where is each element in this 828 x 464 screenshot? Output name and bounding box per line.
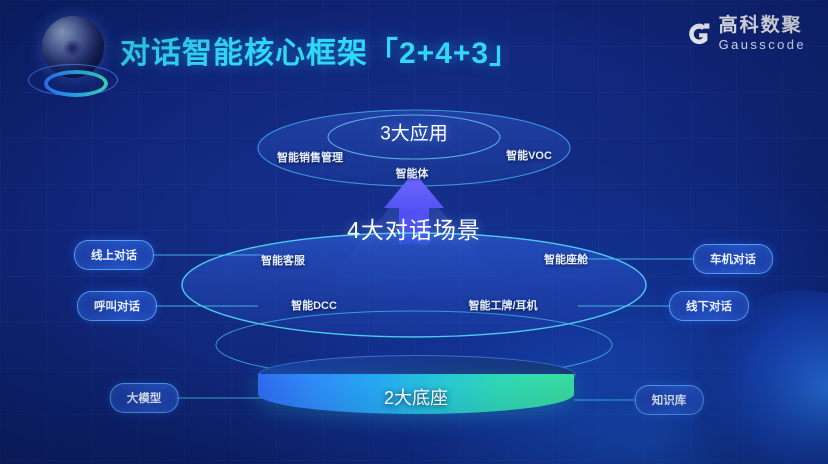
middle-tier-ellipse xyxy=(182,233,646,337)
middle-tier-title: 4大对话场景 xyxy=(347,211,481,245)
node-smart-voc: 智能VOC xyxy=(506,147,552,163)
node-smart-cockpit: 智能座舱 xyxy=(544,251,588,267)
pill-offline-dialogue[interactable]: 线下对话 xyxy=(669,291,749,321)
node-smart-customer-service: 智能客服 xyxy=(261,252,305,268)
pill-knowledge-base[interactable]: 知识库 xyxy=(635,385,704,415)
pill-invehicle-dialogue[interactable]: 车机对话 xyxy=(693,244,773,274)
pill-call-dialogue[interactable]: 呼叫对话 xyxy=(77,291,157,321)
top-tier-title: 3大应用 xyxy=(380,119,448,146)
node-smart-dcc: 智能DCC xyxy=(291,297,337,313)
slide-canvas: 对话智能核心框架「2+4+3」 高科数聚 Gausscode xyxy=(0,0,828,464)
bottom-tier-title: 2大底座 xyxy=(384,384,448,410)
node-smart-badge-headset: 智能工牌/耳机 xyxy=(468,297,537,313)
framework-diagram: 2大底座 3大应用 4大对话场景 智能销售管理 智能VOC 智能体 智能客服 智… xyxy=(0,0,828,464)
node-agent: 智能体 xyxy=(396,165,429,181)
pill-large-model[interactable]: 大模型 xyxy=(110,383,179,413)
pill-online-dialogue[interactable]: 线上对话 xyxy=(74,240,154,270)
node-smart-sales-management: 智能销售管理 xyxy=(277,149,343,165)
